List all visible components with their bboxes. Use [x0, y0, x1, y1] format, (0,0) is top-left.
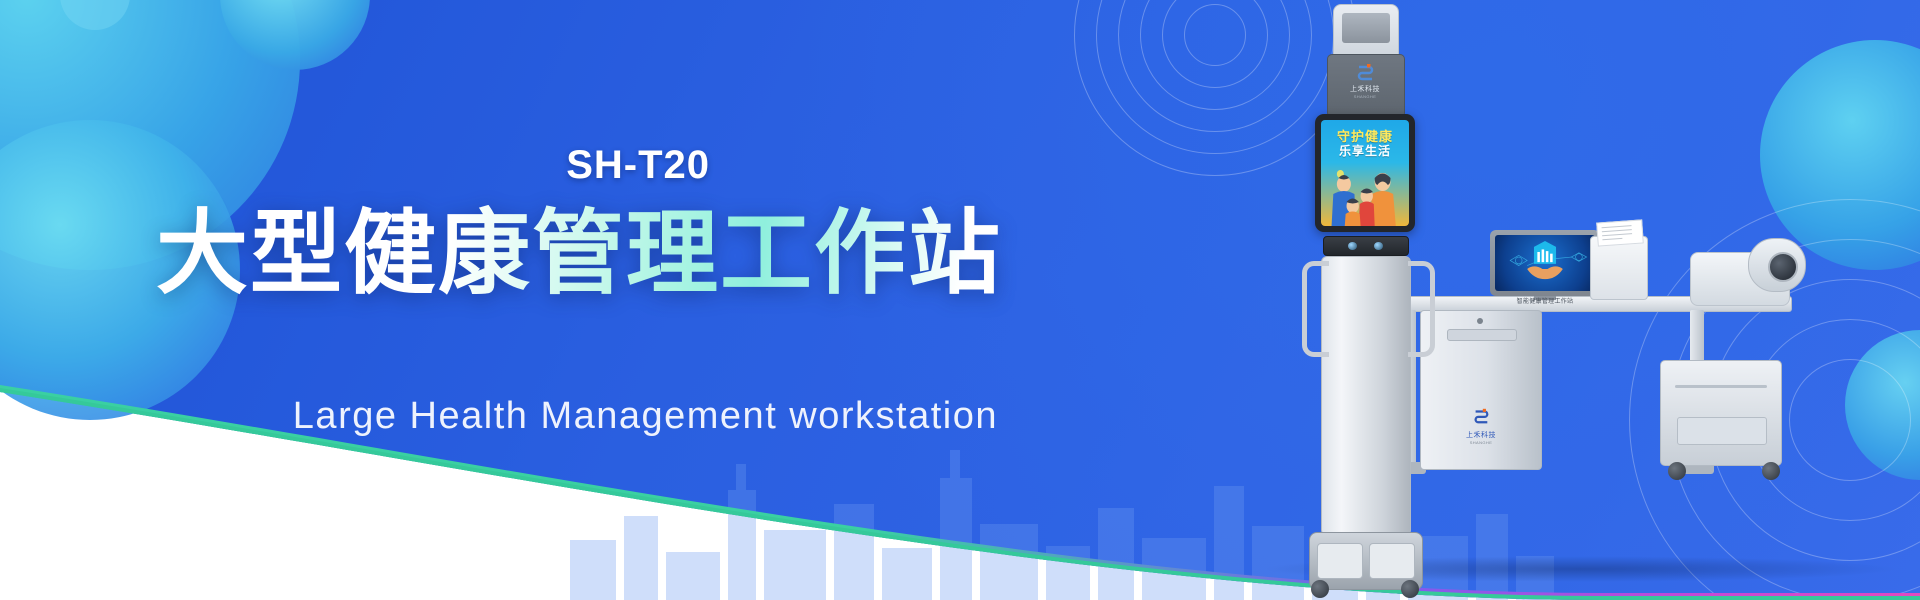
kiosk-wheel-left: [1311, 580, 1329, 598]
family-illustration-icon: [1321, 162, 1409, 226]
kiosk-sensor-window: [1342, 13, 1390, 43]
kiosk-brand-logo: 上禾科技 SHANGHE: [1327, 62, 1403, 99]
kiosk-slogan-line2: 乐享生活: [1321, 142, 1409, 159]
receipt-printer: [1590, 236, 1648, 300]
kiosk-column: [1321, 256, 1411, 536]
caster-wheel-left: [1668, 462, 1686, 480]
bio-analyzer-device: [1690, 238, 1810, 308]
monitor-bezel: [1490, 230, 1600, 296]
page-title: 大型健康管理工作站: [0, 205, 1020, 304]
kiosk-height-sensor: [1333, 4, 1399, 58]
monitor-caption: 智能健康管理工作站: [1490, 296, 1600, 305]
kiosk-display-content: 守护健康 乐享生活: [1321, 120, 1409, 226]
footprint-right: [1369, 543, 1415, 579]
cabinet-brand-cn: 上禾科技: [1445, 430, 1517, 440]
kiosk-handrail-right: [1408, 261, 1435, 357]
model-code: SH-T20: [0, 143, 1020, 188]
kiosk-brand-en: SHANGHE: [1327, 94, 1403, 99]
product-hero-banner: SH-T20 大型健康管理工作站 Large Health Management…: [0, 0, 1920, 600]
health-kiosk: 上禾科技 SHANGHE 守护健康 乐享生活: [1305, 4, 1425, 592]
kiosk-display[interactable]: 守护健康 乐享生活: [1315, 114, 1415, 232]
kiosk-brand-cn: 上禾科技: [1327, 84, 1403, 94]
printer-slot: [1675, 385, 1767, 388]
shanghe-logo-icon: [1355, 62, 1375, 82]
cabinet-slot: [1447, 329, 1517, 341]
dual-camera-icon: [1323, 236, 1409, 256]
equipment-cabinet: 上禾科技 SHANGHE: [1420, 310, 1542, 470]
monitor-screen: [1495, 235, 1595, 291]
caster-wheel-right: [1762, 462, 1780, 480]
kiosk-handrail-left: [1302, 261, 1329, 357]
printed-receipt: [1596, 219, 1644, 246]
printer-tray: [1677, 417, 1767, 445]
floor-printer: [1660, 360, 1782, 466]
shanghe-logo-icon: [1472, 407, 1490, 425]
cabinet-indicator-light: [1477, 318, 1483, 324]
product-photo: 上禾科技 SHANGHE: [1250, 0, 1920, 600]
analyzer-lens-icon: [1768, 252, 1798, 282]
desk-monitor: 智能健康管理工作站: [1490, 230, 1600, 308]
cabinet-brand-logo: 上禾科技 SHANGHE: [1445, 407, 1517, 445]
cabinet-brand-en: SHANGHE: [1445, 440, 1517, 445]
footprint-left: [1317, 543, 1363, 579]
kiosk-wheel-right: [1401, 580, 1419, 598]
health-family-hands-icon: [1495, 235, 1595, 291]
